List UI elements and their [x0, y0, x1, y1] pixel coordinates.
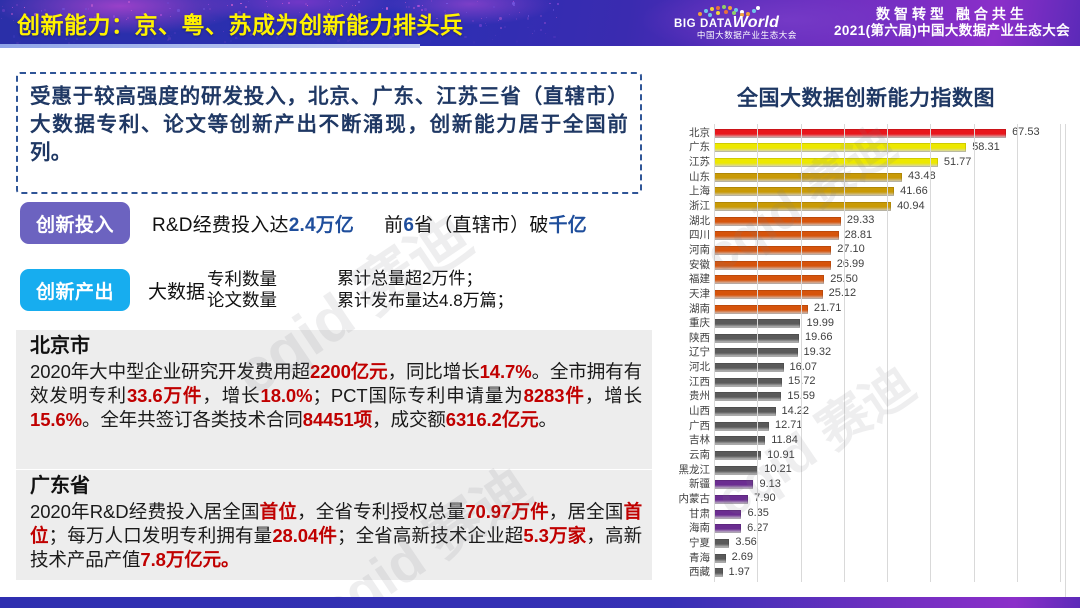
chart-category-label: 西藏 — [670, 567, 710, 578]
chart-bar-row: 河北16.07 — [670, 360, 1066, 375]
chart-bar — [714, 261, 831, 270]
slogan-line-2: 2021(第六届)中国大数据产业生态大会 — [834, 23, 1070, 40]
chart-bar-row: 北京67.53 — [670, 126, 1066, 141]
chart-category-label: 河北 — [670, 362, 710, 373]
chart-value-label: 40.94 — [897, 201, 925, 212]
bigdata-world-logo: BIG DATAWorld 中国大数据产业生态大会 — [674, 3, 820, 43]
chart-bar — [714, 568, 723, 577]
chart-bar — [714, 539, 729, 548]
guangdong-panel: 广东省 2020年R&D经费投入居全国首位，全省专利授权总量70.97万件，居全… — [16, 470, 652, 580]
chart-gridline — [1017, 124, 1018, 582]
investment-value-b: 6 — [403, 215, 414, 236]
chart-category-label: 江西 — [670, 377, 710, 388]
chart-category-label: 新疆 — [670, 479, 710, 490]
investment-label-b: 前 — [384, 215, 403, 236]
chart-bar — [714, 495, 748, 504]
chart-bar-row: 安徽26.99 — [670, 258, 1066, 273]
chart-value-label: 14.22 — [782, 406, 810, 417]
chart-gridline — [887, 124, 888, 582]
slide-header: 创新能力：京、粤、苏成为创新能力排头兵 BIG DATAWorld 中国大数据产… — [0, 0, 1080, 46]
beijing-panel: 北京市 2020年大中型企业研究开发费用超2200亿元，同比增长14.7%。全市… — [16, 330, 652, 469]
output-value-1: 累计总量超2万件； — [337, 268, 514, 290]
chart-value-label: 28.81 — [845, 230, 873, 241]
bj-t2: ，同比增长 — [388, 361, 480, 382]
header-underline — [0, 44, 420, 48]
chart-bar — [714, 158, 938, 167]
chart-category-label: 河南 — [670, 245, 710, 256]
innovation-index-chart: 全国大数据创新能力指数图 北京67.53广东58.31江苏51.77山东43.4… — [660, 58, 1072, 588]
chart-bar — [714, 290, 823, 299]
bj-t7: 。全年共签订各类技术合同 — [82, 409, 303, 430]
chart-bar — [714, 275, 824, 284]
chart-category-label: 山西 — [670, 406, 710, 417]
beijing-body: 2020年大中型企业研究开发费用超2200亿元，同比增长14.7%。全市拥有有效… — [30, 360, 642, 432]
guangdong-body: 2020年R&D经费投入居全国首位，全省专利授权总量70.97万件，居全国首位；… — [30, 500, 642, 572]
investment-value-c: 千亿 — [549, 215, 587, 236]
chart-bar-row: 内蒙古7.90 — [670, 492, 1066, 507]
gd-t1: 2020年R&D经费投入居全国 — [30, 501, 260, 522]
chart-bar-row: 青海2.69 — [670, 551, 1066, 566]
bj-t4: ，增长 — [202, 385, 260, 406]
output-metric-list: 专利数量 论文数量 — [207, 269, 277, 311]
chart-bar-row: 浙江40.94 — [670, 199, 1066, 214]
gd-t4: ；每万人口发明专利拥有量 — [49, 525, 273, 546]
chart-value-label: 12.71 — [775, 420, 803, 431]
chart-bar-row: 山东43.48 — [670, 170, 1066, 185]
chart-value-label: 10.91 — [767, 450, 795, 461]
chart-gridline — [757, 124, 758, 582]
chart-title: 全国大数据创新能力指数图 — [660, 82, 1072, 112]
chart-bar-row: 上海41.66 — [670, 185, 1066, 200]
chart-bar-row: 广东58.31 — [670, 141, 1066, 156]
bj-v5: 8283件 — [524, 385, 585, 406]
chart-bar — [714, 348, 798, 357]
chart-bar — [714, 407, 776, 416]
investment-text: R&D经费投入达2.4万亿前6省（直辖市）破千亿 — [152, 210, 587, 237]
chart-bar — [714, 202, 891, 211]
chart-category-label: 青海 — [670, 553, 710, 564]
logo-subtitle: 中国大数据产业生态大会 — [674, 29, 820, 41]
chart-value-label: 11.84 — [771, 435, 798, 446]
chart-category-label: 重庆 — [670, 318, 710, 329]
chart-bar — [714, 143, 966, 152]
chart-value-label: 25.12 — [829, 288, 857, 299]
gd-v1: 首位 — [260, 501, 297, 522]
chart-category-label: 天津 — [670, 289, 710, 300]
chart-bar-row: 江西15.72 — [670, 375, 1066, 390]
chart-value-label: 1.97 — [729, 567, 750, 578]
chart-bar-row: 贵州15.59 — [670, 390, 1066, 405]
chart-bar-row: 湖北29.33 — [670, 214, 1066, 229]
chart-bar-row: 甘肃6.35 — [670, 507, 1066, 522]
chart-category-label: 内蒙古 — [670, 494, 710, 505]
chart-category-label: 海南 — [670, 523, 710, 534]
chart-bar — [714, 524, 741, 533]
chart-value-label: 10.21 — [764, 464, 792, 475]
output-prefix-label: 大数据 — [148, 277, 205, 304]
chart-gridline — [844, 124, 845, 582]
bj-t9: 。 — [539, 409, 557, 430]
chart-bar-row: 天津25.12 — [670, 287, 1066, 302]
chart-bar-row: 重庆19.99 — [670, 316, 1066, 331]
gd-v5: 5.3万家 — [523, 525, 586, 546]
chart-bar-row: 江苏51.77 — [670, 155, 1066, 170]
chart-bar-row: 西藏1.97 — [670, 565, 1066, 580]
guangdong-title: 广东省 — [30, 474, 642, 499]
chart-bar — [714, 392, 781, 401]
chart-bar-row: 宁夏3.56 — [670, 536, 1066, 551]
chart-value-label: 15.72 — [788, 376, 816, 387]
chart-category-label: 湖北 — [670, 216, 710, 227]
gd-t2: ，全省专利授权总量 — [297, 501, 465, 522]
bj-v6: 15.6% — [30, 409, 82, 430]
chart-gridline — [1060, 124, 1061, 582]
gd-v2: 70.97万件 — [465, 501, 548, 522]
chart-bar — [714, 246, 831, 255]
chart-bar-rows: 北京67.53广东58.31江苏51.77山东43.48上海41.66浙江40.… — [670, 126, 1066, 582]
chart-bar-row: 吉林11.84 — [670, 434, 1066, 449]
chart-category-label: 吉林 — [670, 435, 710, 446]
chart-bar-row: 新疆9.13 — [670, 477, 1066, 492]
chart-bar — [714, 363, 784, 372]
bj-t5: ；PCT国际专利申请量为 — [312, 385, 523, 406]
output-metric-2: 论文数量 — [207, 290, 277, 311]
chart-category-label: 福建 — [670, 274, 710, 285]
badge-innovation-investment[interactable]: 创新投入 — [20, 202, 130, 244]
chart-bar — [714, 466, 758, 475]
output-value-list: 累计总量超2万件； 累计发布量达4.8万篇； — [337, 268, 514, 312]
chart-gridline — [974, 124, 975, 582]
page-title: 创新能力：京、粤、苏成为创新能力排头兵 — [17, 6, 464, 40]
chart-category-label: 甘肃 — [670, 509, 710, 520]
chart-value-label: 16.07 — [790, 362, 818, 373]
chart-bar — [714, 217, 841, 226]
chart-category-label: 云南 — [670, 450, 710, 461]
innovation-investment-row: 创新投入 R&D经费投入达2.4万亿前6省（直辖市）破千亿 — [20, 202, 660, 244]
chart-value-label: 51.77 — [944, 157, 972, 168]
chart-value-label: 21.71 — [814, 303, 842, 314]
bj-v3: 33.6万件 — [127, 385, 202, 406]
badge-innovation-output[interactable]: 创新产出 — [20, 269, 130, 311]
chart-bar — [714, 554, 726, 563]
chart-bar-row: 河南27.10 — [670, 243, 1066, 258]
chart-bar-row: 黑龙江10.21 — [670, 463, 1066, 478]
gd-t3: ，居全国 — [549, 501, 624, 522]
chart-bar — [714, 480, 753, 489]
innovation-output-row: 创新产出 大数据 专利数量 论文数量 累计总量超2万件； 累计发布量达4.8万篇… — [20, 268, 670, 312]
chart-category-label: 陕西 — [670, 333, 710, 344]
summary-callout-box: 受惠于较高强度的研发投入，北京、广东、江苏三省（直辖市）大数据专利、论文等创新产… — [16, 72, 642, 194]
chart-gridline — [801, 124, 802, 582]
gd-t5: ；全省高新技术企业超 — [337, 525, 523, 546]
chart-plot-area: 北京67.53广东58.31江苏51.77山东43.48上海41.66浙江40.… — [670, 124, 1066, 608]
chart-bar-row: 陕西19.66 — [670, 331, 1066, 346]
chart-gridline — [930, 124, 931, 582]
chart-bar-row: 云南10.91 — [670, 448, 1066, 463]
beijing-title: 北京市 — [30, 334, 642, 359]
bj-t8: ，成交额 — [372, 409, 446, 430]
chart-category-label: 四川 — [670, 230, 710, 241]
bj-t6: ，增长 — [585, 385, 642, 406]
summary-text: 受惠于较高强度的研发投入，北京、广东、江苏三省（直辖市）大数据专利、论文等创新产… — [30, 83, 628, 167]
chart-value-label: 58.31 — [972, 142, 1000, 153]
bj-v7: 84451项 — [303, 409, 372, 430]
chart-value-label: 43.48 — [908, 171, 936, 182]
chart-bar-row: 四川28.81 — [670, 229, 1066, 244]
chart-bar — [714, 451, 761, 460]
header-brand-group: BIG DATAWorld 中国大数据产业生态大会 数智转型 融合共生 2021… — [674, 3, 1070, 43]
investment-label-c: 省（直辖市）破 — [414, 215, 548, 236]
chart-value-label: 19.32 — [804, 347, 832, 358]
bj-t1: 2020年大中型企业研究开发费用超 — [30, 361, 310, 382]
chart-category-label: 安徽 — [670, 260, 710, 271]
chart-value-label: 27.10 — [837, 244, 865, 255]
chart-bar — [714, 422, 769, 431]
header-slogan: 数智转型 融合共生 2021(第六届)中国大数据产业生态大会 — [834, 6, 1070, 40]
chart-value-label: 2.69 — [732, 552, 753, 563]
chart-bar-row: 山西14.22 — [670, 404, 1066, 419]
investment-value-a: 2.4万亿 — [289, 215, 354, 236]
chart-category-label: 山东 — [670, 172, 710, 183]
output-metric-1: 专利数量 — [207, 269, 277, 290]
chart-category-label: 湖南 — [670, 304, 710, 315]
chart-category-label: 上海 — [670, 186, 710, 197]
gd-v4: 28.04件 — [272, 525, 337, 546]
chart-category-label: 黑龙江 — [670, 465, 710, 476]
slogan-line-1: 数智转型 融合共生 — [834, 6, 1070, 24]
bj-v4: 18.0% — [261, 385, 313, 406]
chart-bar — [714, 305, 808, 314]
chart-value-label: 9.13 — [759, 479, 780, 490]
chart-bar — [714, 510, 741, 519]
chart-bar-row: 福建25.50 — [670, 272, 1066, 287]
slide-footer-bar — [0, 597, 1080, 608]
chart-gridline — [714, 124, 715, 582]
chart-bar — [714, 231, 839, 240]
chart-category-label: 广西 — [670, 421, 710, 432]
bj-v8: 6316.2亿元 — [446, 409, 539, 430]
chart-value-label: 26.99 — [837, 259, 865, 270]
chart-category-label: 浙江 — [670, 201, 710, 212]
chart-value-label: 19.99 — [806, 318, 834, 329]
bj-v1: 2200亿元 — [310, 361, 388, 382]
chart-category-label: 北京 — [670, 128, 710, 139]
chart-value-label: 19.66 — [805, 332, 833, 343]
chart-bar-row: 辽宁19.32 — [670, 346, 1066, 361]
chart-category-label: 辽宁 — [670, 347, 710, 358]
chart-bar — [714, 173, 902, 182]
investment-label-a: R&D经费投入达 — [152, 215, 289, 236]
chart-category-label: 江苏 — [670, 157, 710, 168]
chart-bar-row: 湖南21.71 — [670, 302, 1066, 317]
chart-bar — [714, 378, 782, 387]
chart-bar-row: 广西12.71 — [670, 419, 1066, 434]
chart-category-label: 广东 — [670, 142, 710, 153]
chart-category-label: 贵州 — [670, 391, 710, 402]
gd-v6: 7.8万亿元。 — [140, 549, 239, 570]
slide-root: 创新能力：京、粤、苏成为创新能力排头兵 BIG DATAWorld 中国大数据产… — [0, 0, 1080, 608]
chart-value-label: 41.66 — [900, 186, 928, 197]
chart-bar — [714, 187, 894, 196]
chart-category-label: 宁夏 — [670, 538, 710, 549]
chart-value-label: 29.33 — [847, 215, 875, 226]
chart-value-label: 3.56 — [735, 537, 756, 548]
bj-v2: 14.7% — [480, 361, 532, 382]
output-value-2: 累计发布量达4.8万篇； — [337, 290, 514, 312]
chart-bar-row: 海南6.27 — [670, 521, 1066, 536]
